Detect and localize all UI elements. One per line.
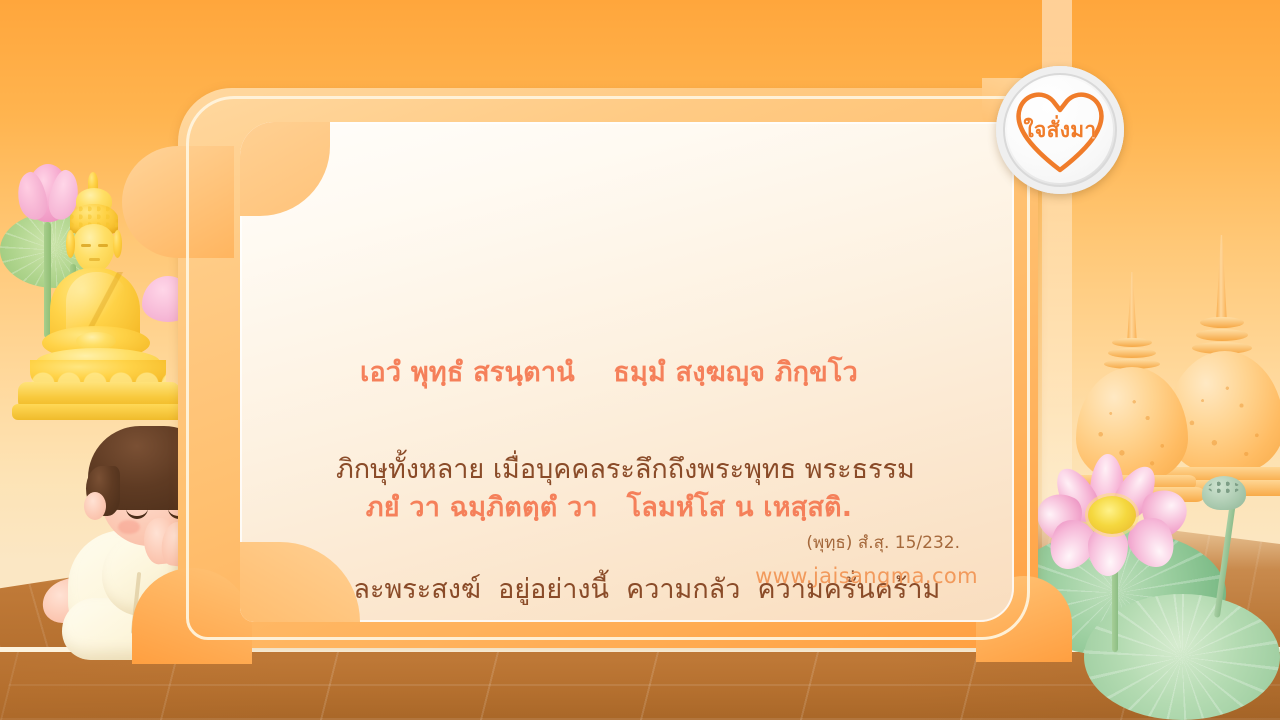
card-inner-panel: เอวํ พุทฺธํ สรนฺตานํ ธมฺมํ สงฺฆญฺจ ภิกฺข…	[240, 122, 1014, 622]
frame-corner-top-left	[122, 146, 234, 258]
scripture-citation: (พุทฺธ) สํ.สุ. 15/232.	[806, 529, 960, 556]
lotus-center	[1088, 496, 1136, 534]
website-url[interactable]: www.jaisangma.com	[755, 564, 978, 588]
quote-card-canvas: เอวํ พุทฺธํ สรนฺตานํ ธมฺมํ สงฺฆญฺจ ภิกฺข…	[0, 0, 1280, 720]
thai-line-1: ภิกษุทั้งหลาย เมื่อบุคคลระลึกถึงพระพุทธ …	[336, 450, 954, 490]
logo-label: ใจสั่งมา	[996, 114, 1124, 147]
card-content: เอวํ พุทฺธํ สรนฺตานํ ธมฺมํ สงฺฆญฺจ ภิกฺข…	[240, 122, 1014, 622]
quote-card: เอวํ พุทฺธํ สรนฺตานํ ธมฺมํ สงฺฆญฺจ ภิกฺข…	[178, 88, 1038, 648]
jaisangma-logo-badge[interactable]: ใจสั่งมา	[996, 66, 1124, 194]
lotus-flower-icon	[1038, 456, 1190, 582]
lotus-cluster-right	[1016, 452, 1280, 720]
lotus-seed-pod-icon	[1202, 476, 1246, 510]
